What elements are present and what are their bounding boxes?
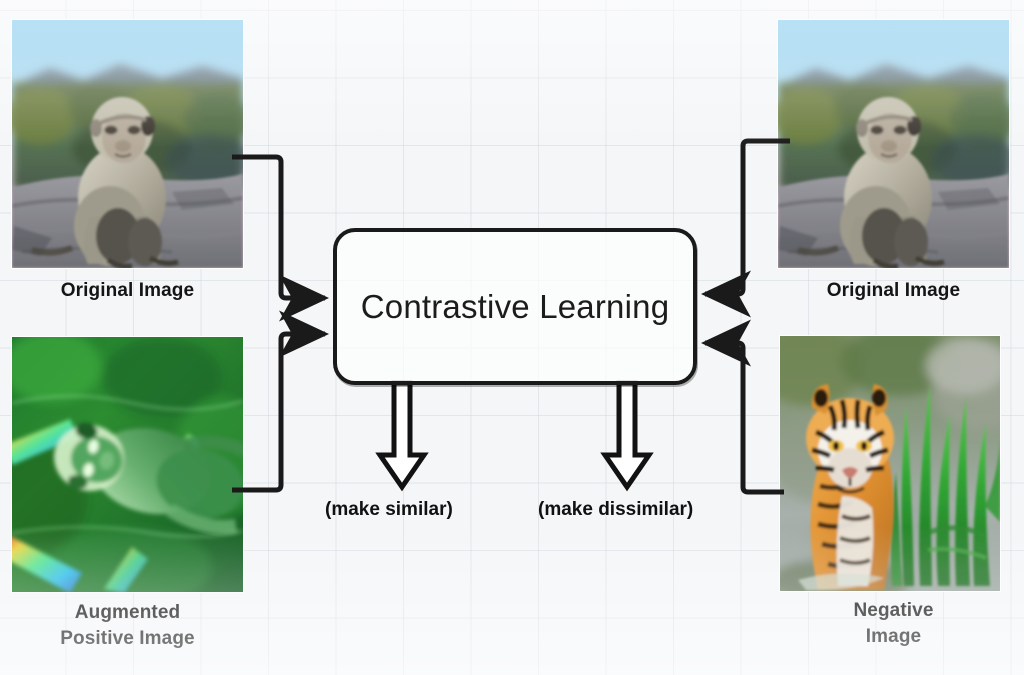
caption-text-line2: Positive Image: [12, 626, 243, 652]
caption-negative-image: Negative Image: [778, 598, 1009, 650]
caption-text-line1: Negative: [778, 598, 1009, 624]
wire-augmented-to-box: [232, 334, 325, 490]
block-arrow-make-dissimilar: [605, 383, 649, 487]
caption-augmented-positive-image: Augmented Positive Image: [12, 600, 243, 652]
photo-original-image-left: [12, 20, 243, 268]
label-make-dissimilar: (make dissimilar): [538, 499, 693, 521]
photo-original-image-right: [778, 20, 1009, 268]
label-make-similar: (make similar): [325, 499, 453, 521]
photo-negative-image: [780, 336, 1000, 591]
caption-text-line2: Image: [778, 624, 1009, 650]
block-arrow-make-similar: [380, 383, 424, 487]
caption-text-line1: Augmented: [12, 600, 243, 626]
monkey-photo-illustration-right: [778, 20, 1009, 268]
label-text: (make similar): [325, 499, 453, 520]
monkey-photo-illustration: [12, 20, 243, 268]
contrastive-learning-node[interactable]: Contrastive Learning: [333, 228, 697, 385]
label-text: (make dissimilar): [538, 499, 693, 520]
contrastive-learning-label: Contrastive Learning: [361, 288, 670, 326]
caption-original-image-right: Original Image: [778, 278, 1009, 304]
tiger-photo-illustration: [780, 336, 1000, 591]
caption-text: Original Image: [61, 280, 194, 301]
augmented-monkey-illustration: [12, 337, 243, 592]
photo-augmented-positive-image: [12, 337, 243, 592]
wire-original-left-to-box: [232, 157, 325, 298]
caption-original-image-left: Original Image: [12, 278, 243, 304]
wire-negative-to-box: [705, 343, 784, 492]
caption-text: Original Image: [827, 280, 960, 301]
